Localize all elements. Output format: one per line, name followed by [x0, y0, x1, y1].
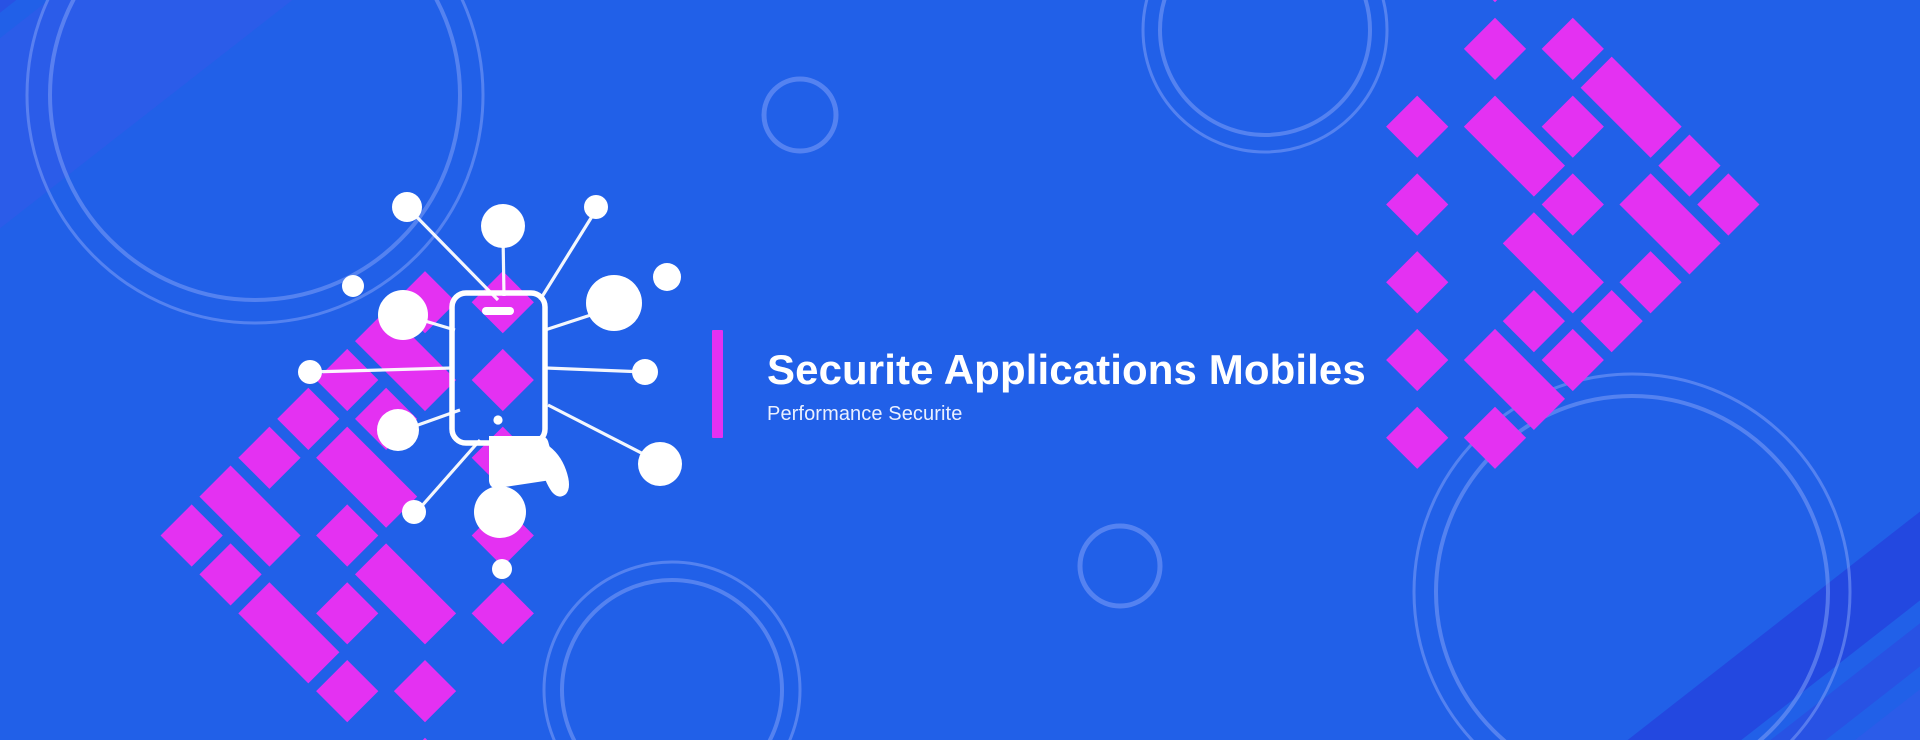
network-node	[584, 195, 608, 219]
accent-bar	[712, 330, 723, 438]
network-nodes	[298, 192, 682, 579]
network-connectors	[310, 207, 655, 512]
hero-banner: Securite Applications Mobiles Performanc…	[0, 0, 1920, 740]
network-node	[378, 290, 428, 340]
network-node	[632, 359, 658, 385]
network-node	[342, 275, 364, 297]
network-node	[298, 360, 322, 384]
network-node	[481, 204, 525, 248]
page-subtitle: Performance Securite	[767, 402, 1366, 426]
network-node	[402, 500, 426, 524]
network-node	[392, 192, 422, 222]
network-node	[653, 263, 681, 291]
network-node	[377, 409, 419, 451]
network-node	[474, 486, 526, 538]
banner-text-block: Securite Applications Mobiles Performanc…	[712, 330, 1366, 438]
network-node	[492, 559, 512, 579]
banner-text-column: Securite Applications Mobiles Performanc…	[767, 330, 1366, 438]
phone-icon	[452, 293, 545, 443]
page-title: Securite Applications Mobiles	[767, 346, 1366, 395]
network-node	[638, 442, 682, 486]
network-node	[586, 275, 642, 331]
